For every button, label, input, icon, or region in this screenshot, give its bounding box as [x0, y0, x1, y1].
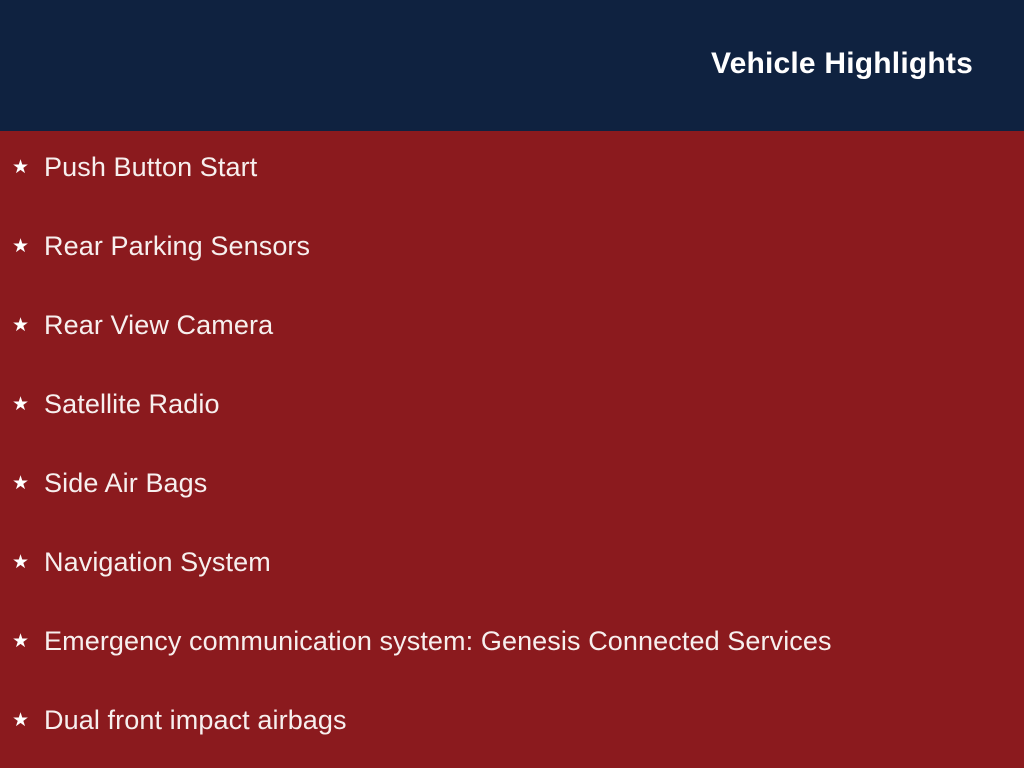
star-icon: ★ [12, 553, 32, 572]
list-item-label: Rear View Camera [44, 312, 273, 339]
list-item: ★ Navigation System [0, 549, 1024, 628]
list-item: ★ Side Air Bags [0, 470, 1024, 549]
list-item-label: Dual front impact airbags [44, 707, 347, 734]
list-item: ★ Push Button Start [0, 131, 1024, 233]
page-title: Vehicle Highlights [711, 49, 973, 79]
list-item: ★ Rear Parking Sensors [0, 233, 1024, 312]
list-item: ★ Dual front impact airbags [0, 707, 1024, 768]
star-icon: ★ [12, 632, 32, 651]
list-item: ★ Rear View Camera [0, 312, 1024, 391]
star-icon: ★ [12, 316, 32, 335]
list-item: ★ Satellite Radio [0, 391, 1024, 470]
list-item-label: Navigation System [44, 549, 271, 576]
list-item: ★ Emergency communication system: Genesi… [0, 628, 1024, 707]
list-item-label: Emergency communication system: Genesis … [44, 628, 832, 655]
list-item-label: Satellite Radio [44, 391, 220, 418]
list-item-label: Side Air Bags [44, 470, 207, 497]
star-icon: ★ [12, 237, 32, 256]
slide-body: ★ Push Button Start ★ Rear Parking Senso… [0, 131, 1024, 768]
star-icon: ★ [12, 711, 32, 730]
list-item-label: Rear Parking Sensors [44, 233, 310, 260]
star-icon: ★ [12, 158, 32, 177]
star-icon: ★ [12, 474, 32, 493]
list-item-label: Push Button Start [44, 154, 257, 181]
star-icon: ★ [12, 395, 32, 414]
vehicle-highlights-slide: Vehicle Highlights ★ Push Button Start ★… [0, 0, 1024, 768]
vehicle-highlights-list: ★ Push Button Start ★ Rear Parking Senso… [0, 131, 1024, 768]
slide-header: Vehicle Highlights [0, 0, 1024, 131]
